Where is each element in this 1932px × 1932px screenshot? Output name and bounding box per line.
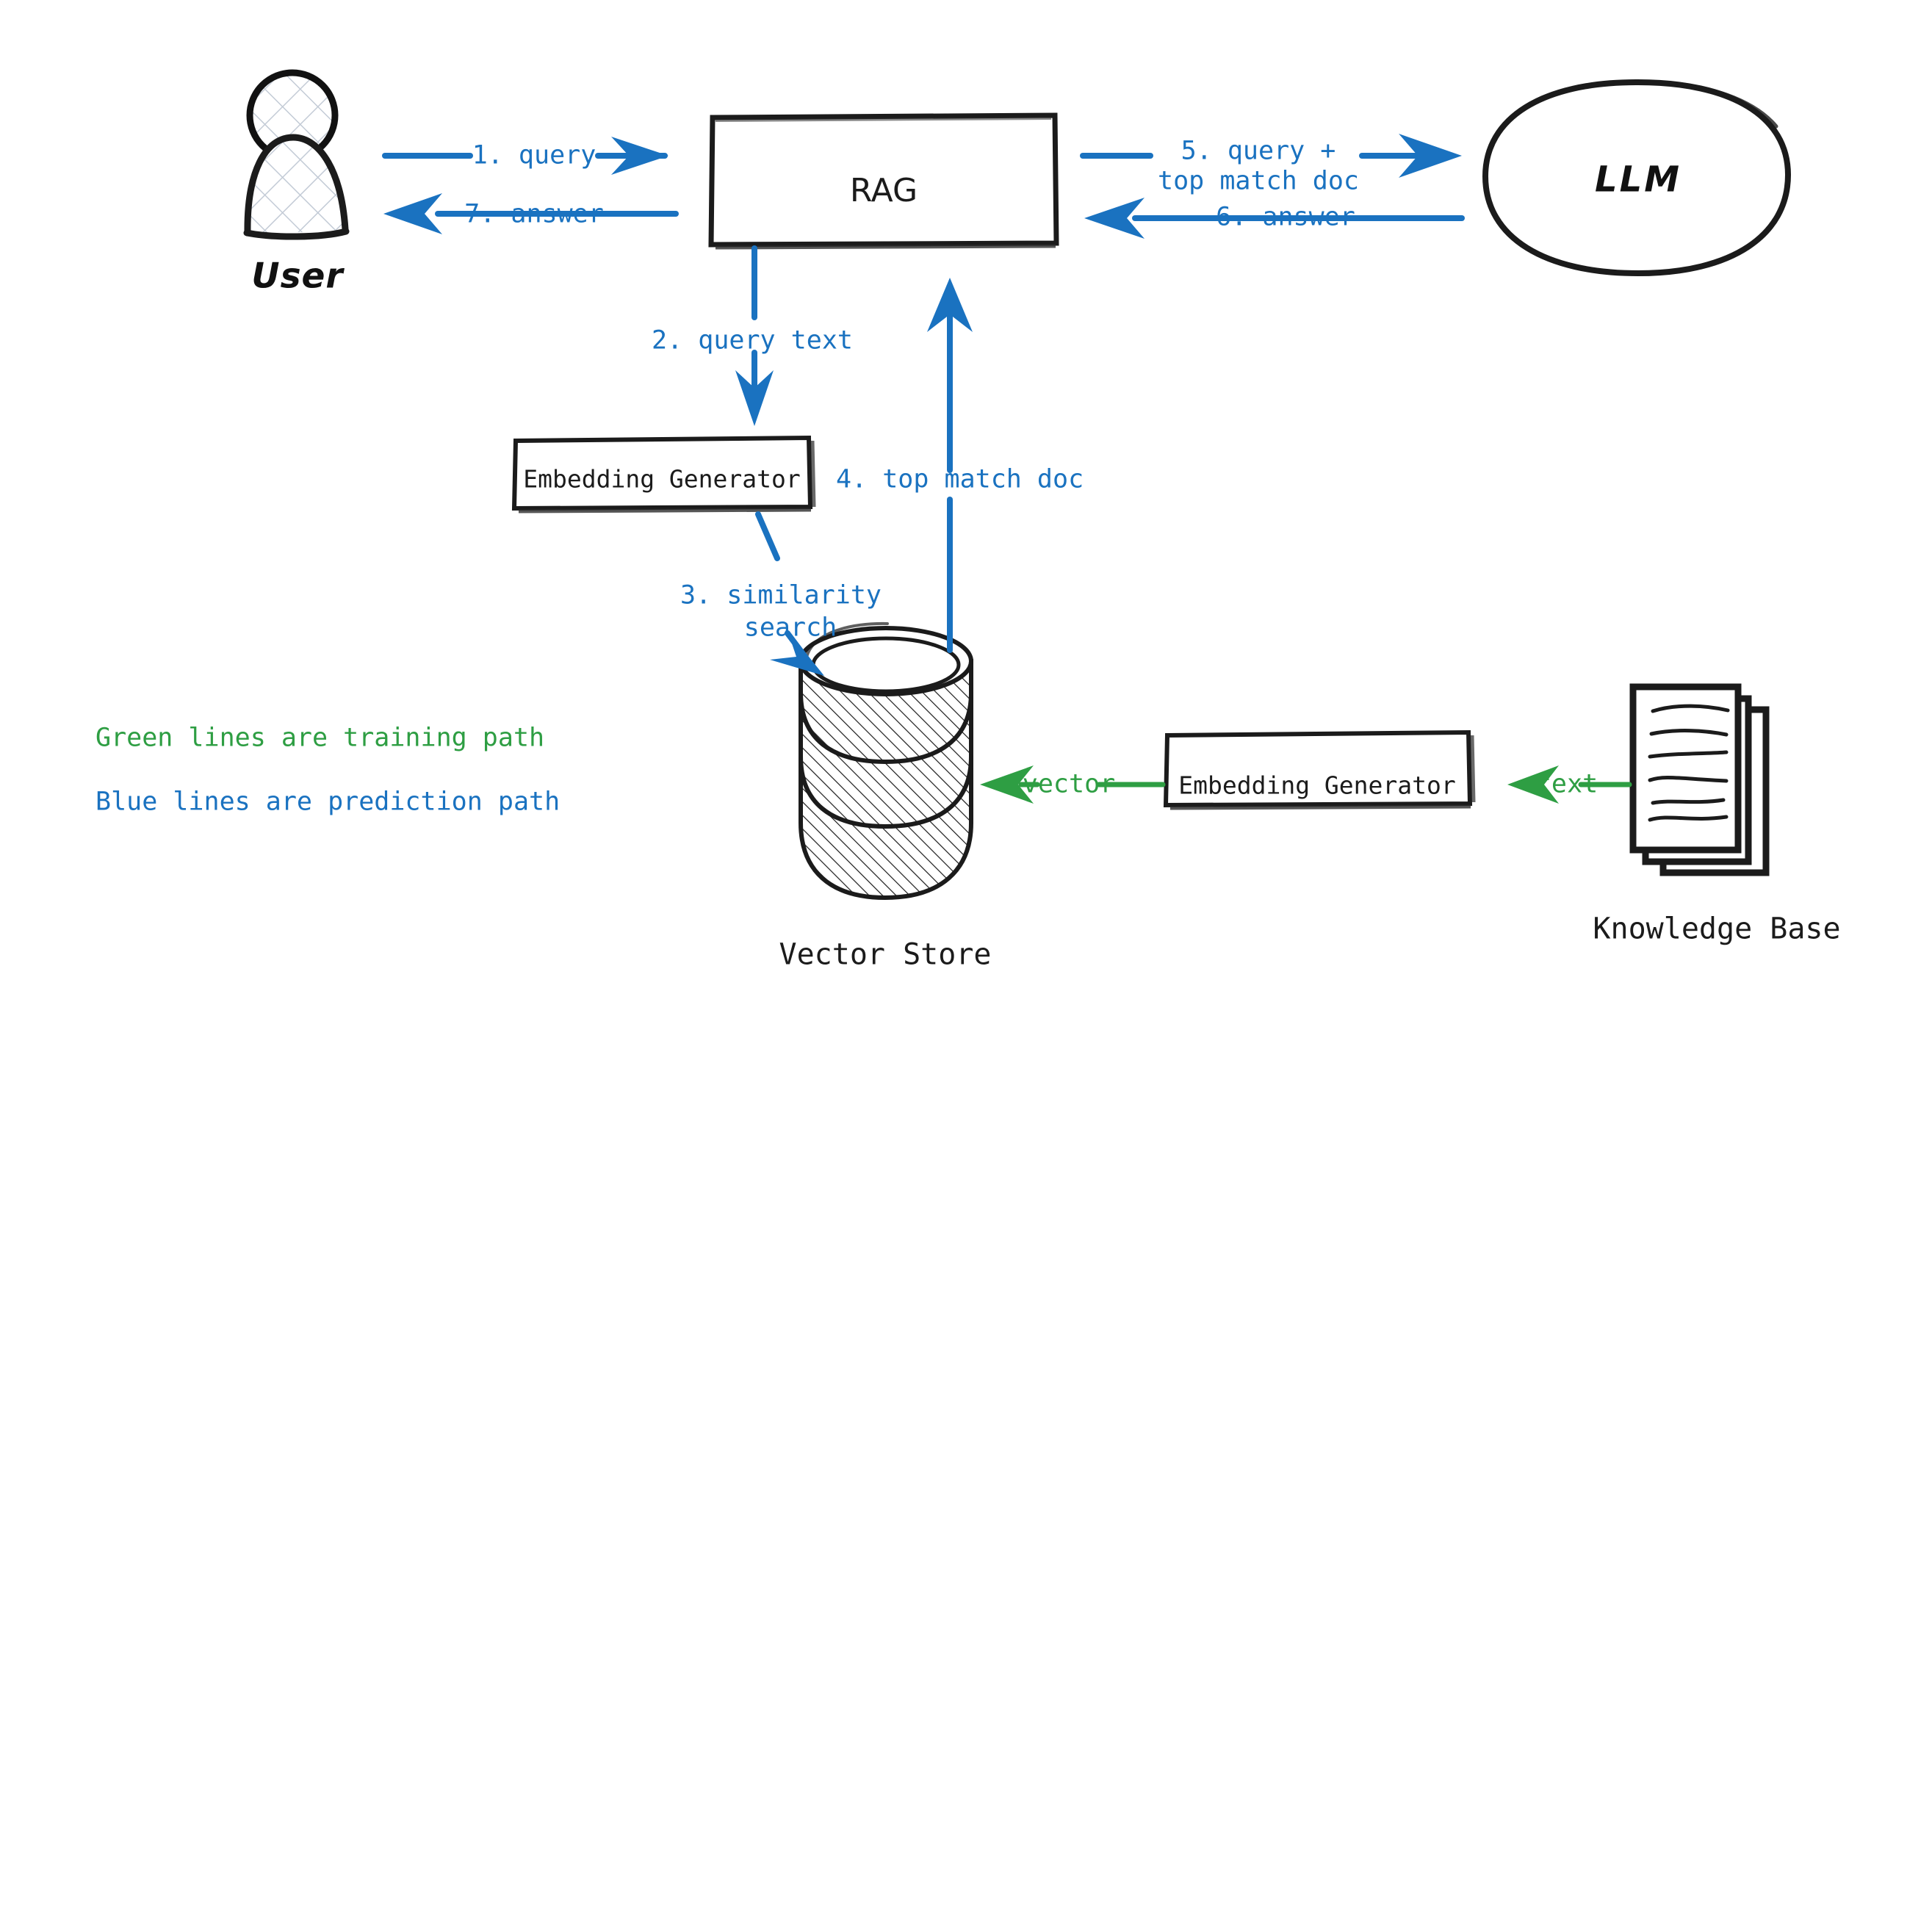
edge-label-3-line2: search: [744, 613, 837, 643]
edge-label-5-line2: top match doc: [1158, 166, 1359, 196]
document-stack-icon: [1633, 687, 1766, 873]
legend-green-line: Green lines are training path: [95, 723, 544, 753]
edge-label-4-top-match-doc: 4. top match doc: [836, 464, 1084, 494]
edge-label-7-answer: 7. answer: [464, 199, 604, 229]
edge-label-5-line1: 5. query +: [1181, 136, 1336, 166]
edge-label-3-line1: 3. similarity: [680, 580, 882, 610]
edge-label-2-query-text: 2. query text: [652, 325, 853, 356]
database-cylinder-icon: [801, 624, 971, 898]
vector-store-label: Vector Store: [779, 937, 992, 972]
legend-blue-line: Blue lines are prediction path: [95, 787, 560, 817]
edge-label-1-query: 1. query: [472, 140, 596, 170]
knowledge-base-label: Knowledge Base: [1593, 912, 1840, 946]
rag-label: RAG: [850, 172, 918, 210]
edge-label-text: text: [1536, 769, 1598, 799]
user-label: User: [251, 256, 343, 296]
user-person-icon: [247, 73, 346, 237]
embedding-generator-query-label: Embedding Generator: [523, 466, 801, 494]
llm-label: LLM: [1595, 159, 1682, 201]
diagram-canvas: .ink{fill:none;stroke:#1b1b1b;stroke-lin…: [0, 0, 1932, 1932]
edge-label-vector: vector: [1023, 769, 1115, 799]
edge-label-6-answer: 6. answer: [1216, 202, 1355, 232]
embedding-generator-kb-label: Embedding Generator: [1178, 772, 1456, 801]
